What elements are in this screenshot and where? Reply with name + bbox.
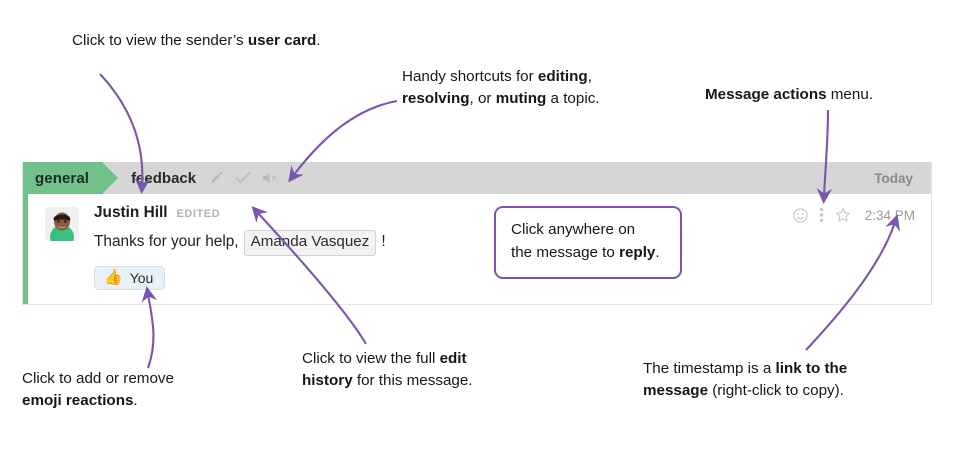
annotation-edit-history: Click to view the full edit history for … xyxy=(302,348,532,392)
annotation-emoji-reactions: Click to add or remove emoji reactions. xyxy=(22,368,272,412)
recipient-date-label: Today xyxy=(874,171,913,186)
annotation-shortcuts-editing: editing xyxy=(538,68,588,85)
avatar[interactable] xyxy=(45,207,79,241)
edited-label[interactable]: EDITED xyxy=(177,208,221,220)
annotation-shortcuts-resolving: resolving xyxy=(402,90,470,107)
stream-name: general xyxy=(35,170,89,187)
check-icon[interactable] xyxy=(235,171,251,185)
annotation-shortcuts-tail: a topic. xyxy=(546,90,599,107)
pencil-icon[interactable] xyxy=(209,171,224,186)
star-icon[interactable] xyxy=(835,207,851,223)
annotation-shortcuts-muting: muting xyxy=(496,90,547,107)
annotation-shortcuts-pre: Handy shortcuts for xyxy=(402,68,538,85)
annotation-actions-bold: Message actions xyxy=(705,86,827,103)
message-actions-icon[interactable] xyxy=(819,207,824,223)
topic-name[interactable]: feedback xyxy=(131,170,196,187)
annotation-message-actions: Message actions menu. xyxy=(705,84,955,106)
reaction-count-label: You xyxy=(130,270,154,286)
annotation-sender-text: Click to view the sender’s xyxy=(72,32,248,49)
mute-icon[interactable] xyxy=(262,171,280,185)
annotation-sender-bold: user card xyxy=(248,32,316,49)
stream-color-stripe xyxy=(23,194,28,304)
callout-reply-pre: Click anywhere on the message to xyxy=(511,221,635,261)
arrow-to-reaction xyxy=(148,294,153,368)
stream-tag-general[interactable]: general xyxy=(23,162,103,194)
emoji-reaction-icon[interactable] xyxy=(793,208,808,223)
callout-reply: Click anywhere on the message to reply. xyxy=(494,206,682,279)
emoji-reaction-pill[interactable]: 👍 You xyxy=(94,266,165,290)
annotation-timestamp-link: The timestamp is a link to the message (… xyxy=(643,358,953,402)
message-card[interactable]: general feedback Today xyxy=(22,162,932,305)
message-timestamp[interactable]: 2:34 PM xyxy=(865,208,915,223)
annotation-edit-tail: for this message. xyxy=(353,372,473,389)
user-mention-pill[interactable]: Amanda Vasquez xyxy=(244,230,377,256)
callout-reply-tail: . xyxy=(655,244,659,261)
message-text-after: ! xyxy=(381,232,385,253)
annotation-sender-tail: . xyxy=(316,32,320,49)
annotation-emoji-bold: emoji reactions xyxy=(22,392,133,409)
annotation-topic-shortcuts: Handy shortcuts for editing, resolving, … xyxy=(402,66,652,110)
annotation-edit-pre: Click to view the full xyxy=(302,350,440,367)
annotation-sender-user-card: Click to view the sender’s user card. xyxy=(72,30,322,52)
message-text-before: Thanks for your help, xyxy=(94,232,239,253)
thumbs-up-icon: 👍 xyxy=(104,270,123,285)
message-row[interactable]: Justin Hill EDITED Thanks for your help,… xyxy=(23,194,931,304)
annotation-time-tail: (right-click to copy). xyxy=(708,382,844,399)
annotation-shortcuts-mid2: , or xyxy=(470,90,496,107)
annotation-shortcuts-mid1: , xyxy=(588,68,592,85)
annotation-emoji-tail: . xyxy=(133,392,137,409)
recipient-bar[interactable]: general feedback Today xyxy=(23,162,931,194)
sender-name[interactable]: Justin Hill xyxy=(94,204,168,222)
message-action-icons: 2:34 PM xyxy=(793,207,915,223)
annotation-time-pre: The timestamp is a xyxy=(643,360,776,377)
annotation-actions-tail: menu. xyxy=(827,86,873,103)
annotation-emoji-pre: Click to add or remove xyxy=(22,370,174,387)
callout-reply-bold: reply xyxy=(619,244,655,261)
